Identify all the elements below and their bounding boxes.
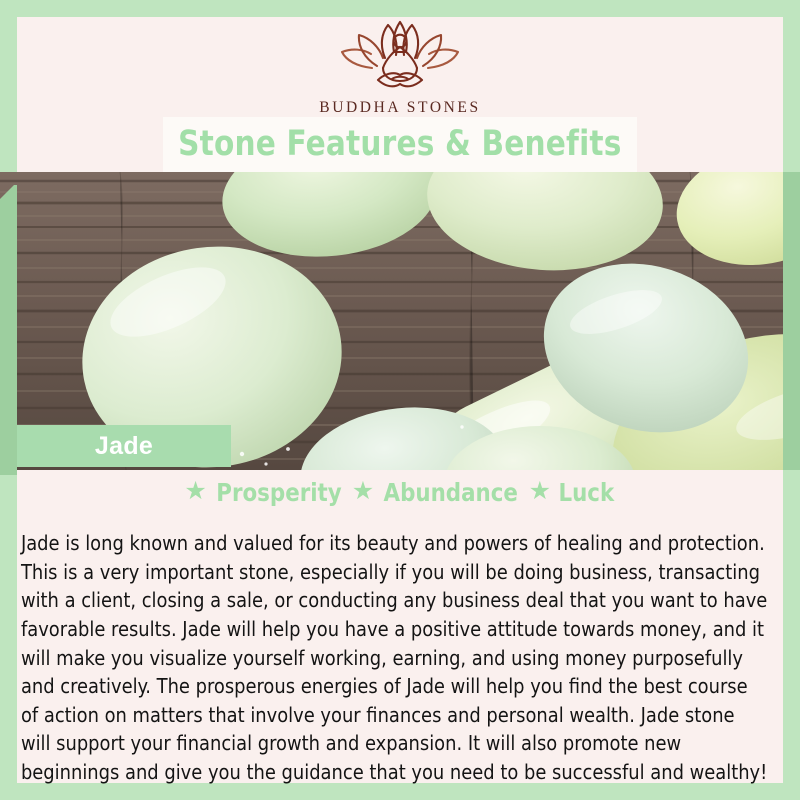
photo-accent-right (783, 172, 800, 470)
stone-description: Jade is long known and valued for its be… (17, 529, 772, 786)
stone-name-band: Jade (17, 425, 231, 467)
keyword-item-prosperity: ★ Prosperity (184, 478, 344, 507)
lotus-meditation-icon (336, 18, 464, 92)
keyword-label: Abundance (384, 478, 518, 507)
stone-infographic-card: BUDDHA STONES Stone Features & Benefits (0, 0, 800, 800)
keyword-item-luck: ★ Luck (529, 478, 616, 507)
photo-accent-left (0, 185, 17, 475)
star-icon: ★ (352, 479, 374, 504)
keyword-label: Prosperity (216, 478, 341, 507)
star-icon: ★ (184, 479, 206, 504)
star-icon: ★ (529, 479, 551, 504)
section-title: Stone Features & Benefits (178, 127, 621, 162)
brand-name: BUDDHA STONES (319, 99, 480, 117)
section-title-band: Stone Features & Benefits (163, 117, 637, 172)
keyword-item-abundance: ★ Abundance (352, 478, 522, 507)
keyword-list: ★ Prosperity ★ Abundance ★ Luck (0, 476, 800, 509)
brand-logo: BUDDHA STONES (319, 18, 480, 117)
stone-name: Jade (95, 432, 153, 461)
keyword-label: Luck (558, 478, 614, 507)
